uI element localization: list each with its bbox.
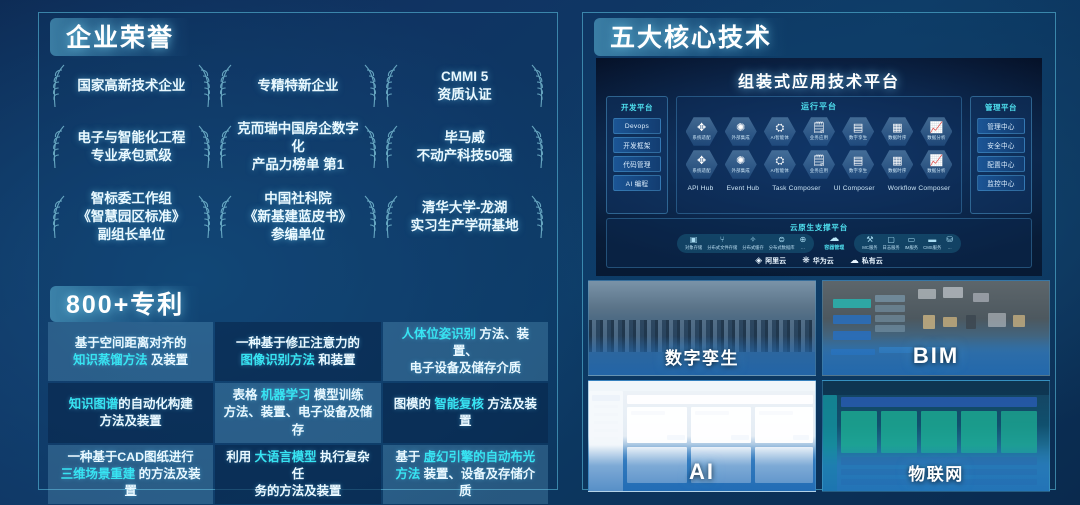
tile-graphic-element bbox=[875, 295, 905, 302]
capability-caption: 外部集成 bbox=[732, 135, 750, 141]
platform-capability-icon: ✥系统适配 bbox=[686, 116, 718, 147]
run-platform-icon-row-1: ✥系统适配✺外部集成⛭AI智能体🗒业务应用▤数字孪生▦数据时序📈数据分析 bbox=[677, 116, 961, 149]
cloud-service-caption: 分布式缓存 bbox=[742, 245, 763, 251]
mgmt-platform-items: 管理中心安全中心配置中心监控中心 bbox=[971, 118, 1031, 191]
platform-capability-icon: ▤数字孪生 bbox=[842, 149, 874, 180]
cloud-service-icon: ▢ bbox=[887, 236, 895, 244]
capability-caption: 数字孪生 bbox=[849, 135, 867, 141]
capability-glyph: ▦ bbox=[892, 123, 902, 134]
tile-graphic-element bbox=[988, 313, 1006, 327]
platform-capability-icon: ✺外部集成 bbox=[725, 116, 757, 147]
tile-graphic-element bbox=[918, 289, 936, 299]
capability-caption: AI智能体 bbox=[771, 168, 789, 174]
cloud-service-item: ⚒MC服务 bbox=[862, 236, 877, 251]
honor-text: 清华大学-龙湖实习生产学研基地 bbox=[411, 199, 519, 235]
capability-caption: 数据时序 bbox=[888, 135, 906, 141]
laurel-icon bbox=[361, 124, 379, 170]
platform-capability-icon: 🗒业务应用 bbox=[803, 149, 835, 180]
patent-card: 利用 大语言模型 执行复杂任务的方法及装置 bbox=[215, 445, 380, 504]
container-management: ☁容器管理 bbox=[818, 234, 850, 253]
tile-graphic-element bbox=[943, 287, 963, 298]
capability-glyph: ⛭ bbox=[775, 123, 784, 134]
cloud-vendor: ☁私有云 bbox=[850, 255, 883, 266]
cloud-service-caption: 对象存储 bbox=[685, 245, 702, 251]
tile-graphic-element bbox=[589, 381, 816, 391]
laurel-icon bbox=[383, 124, 401, 170]
honor-text: CMMI 5资质认证 bbox=[438, 68, 492, 104]
capability-caption: 数据分析 bbox=[927, 135, 945, 141]
mgmt-platform-header: 管理平台 bbox=[971, 102, 1031, 113]
cloud-service-caption: 日志服务 bbox=[883, 245, 900, 251]
cloud-service-item: ⊜分布式数据库 bbox=[769, 236, 795, 251]
cloud-vendor-icon: ❋ bbox=[802, 255, 810, 266]
hub-label: API Hub bbox=[688, 185, 714, 192]
patent-card: 人体位姿识别 方法、装置、电子设备及储存介质 bbox=[383, 322, 548, 381]
mgmt-platform-column: 管理平台 管理中心安全中心配置中心监控中心 bbox=[970, 96, 1032, 214]
capability-caption: 数字孪生 bbox=[849, 168, 867, 174]
cloud-vendor-name: 阿里云 bbox=[765, 256, 786, 266]
honor-text: 智标委工作组《智慧园区标准》副组长单位 bbox=[77, 190, 185, 245]
dev-platform-items: Devops开发框架代码管理AI 编程 bbox=[607, 118, 667, 191]
honor-item: 智标委工作组《智慧园区标准》副组长单位 bbox=[48, 188, 215, 246]
tile-graphic-element bbox=[755, 407, 813, 443]
cloud-service-caption: IM服务 bbox=[905, 245, 918, 251]
platform-capability-icon: ✺外部集成 bbox=[725, 149, 757, 180]
tile-graphic-element bbox=[841, 397, 1037, 407]
honor-text: 电子与智能化工程专业承包贰级 bbox=[77, 129, 185, 165]
run-platform-column: 运行平台 ✥系统适配✺外部集成⛭AI智能体🗒业务应用▤数字孪生▦数据时序📈数据分… bbox=[676, 96, 962, 214]
laurel-icon bbox=[528, 124, 546, 170]
patent-card: 一种基于修正注意力的图像识别方法 和装置 bbox=[215, 322, 380, 381]
capability-caption: 业务应用 bbox=[810, 168, 828, 174]
laurel-icon bbox=[50, 63, 68, 109]
cloud-service-item: ⊕… bbox=[800, 236, 807, 251]
patent-card: 知识图谱的自动化构建方法及装置 bbox=[48, 383, 213, 442]
patent-card: 表格 机器学习 模型训练方法、装置、电子设备及储存 bbox=[215, 383, 380, 442]
platform-capability-icon: ⛭AI智能体 bbox=[764, 149, 796, 180]
honor-text: 中国社科院《新基建蓝皮书》参编单位 bbox=[244, 190, 352, 245]
cloud-vendor-name: 华为云 bbox=[813, 256, 834, 266]
platform-capability-icon: ▦数据时序 bbox=[881, 116, 913, 147]
laurel-icon bbox=[217, 63, 235, 109]
honor-text: 国家高新技术企业 bbox=[77, 77, 185, 95]
tile-graphic-element bbox=[833, 315, 871, 324]
cloud-service-caption: 分布式文件存储 bbox=[707, 245, 737, 251]
cloud-vendor: ❋华为云 bbox=[802, 255, 834, 266]
cloud-service-icon: ⛁ bbox=[946, 236, 953, 244]
laurel-icon bbox=[528, 63, 546, 109]
patent-card: 图模的 智能复核 方法及装置 bbox=[383, 383, 548, 442]
run-platform-icon-row-2: ✥系统适配✺外部集成⛭AI智能体🗒业务应用▤数字孪生▦数据时序📈数据分析 bbox=[677, 149, 961, 182]
cloud-service-item: ⑂分布式文件存储 bbox=[707, 236, 737, 251]
capability-glyph: ✥ bbox=[697, 123, 706, 134]
dev-platform-item: Devops bbox=[613, 118, 661, 134]
honor-text: 毕马威不动产科技50强 bbox=[417, 129, 513, 165]
mgmt-platform-item: 监控中心 bbox=[977, 175, 1025, 191]
capability-glyph: ⛭ bbox=[775, 156, 784, 167]
tile-digital-twin[interactable]: 数字孪生 bbox=[588, 280, 816, 376]
cloud-vendor-name: 私有云 bbox=[862, 256, 883, 266]
honor-item: 电子与智能化工程专业承包贰级 bbox=[48, 118, 215, 176]
laurel-icon bbox=[217, 194, 235, 240]
cloud-service-icon: ⊕ bbox=[800, 236, 807, 244]
capability-glyph: ✺ bbox=[736, 156, 745, 167]
cloud-service-item: ▭IM服务 bbox=[905, 236, 918, 251]
tile-graphic-element bbox=[627, 407, 687, 443]
tile-bim[interactable]: BIM bbox=[822, 280, 1050, 376]
capability-caption: AI智能体 bbox=[771, 135, 789, 141]
tile-label: 数字孪生 bbox=[589, 344, 815, 369]
mgmt-platform-item: 安全中心 bbox=[977, 137, 1025, 153]
cloud-service-caption: … bbox=[947, 245, 951, 250]
cloud-service-icon: ⑂ bbox=[720, 236, 725, 244]
cloud-vendor: ◈阿里云 bbox=[755, 255, 786, 266]
run-platform-hub-labels: API HubEvent HubTask ComposerUI Composer… bbox=[677, 185, 961, 192]
tile-graphic-element bbox=[943, 317, 957, 327]
cloud-service-icon: ▣ bbox=[690, 236, 698, 244]
tile-label: BIM bbox=[823, 343, 1049, 369]
capability-glyph: 📈 bbox=[930, 123, 944, 134]
hub-label: Task Composer bbox=[772, 185, 820, 192]
patent-text: 一种基于CAD图纸进行三维场景重建 的方法及装置 bbox=[55, 449, 206, 500]
honor-item: 国家高新技术企业 bbox=[48, 66, 215, 106]
cloud-band-header: 云原生支撑平台 bbox=[607, 222, 1031, 233]
mgmt-platform-item: 管理中心 bbox=[977, 118, 1025, 134]
capability-glyph: ✺ bbox=[736, 123, 745, 134]
laurel-icon bbox=[217, 124, 235, 170]
cloud-service-icon: ⊜ bbox=[778, 236, 785, 244]
cloud-vendor-icon: ◈ bbox=[755, 255, 762, 266]
laurel-icon bbox=[50, 194, 68, 240]
laurel-icon bbox=[195, 124, 213, 170]
tile-graphic-element bbox=[1013, 315, 1025, 327]
laurel-icon bbox=[361, 63, 379, 109]
tile-label: 物联网 bbox=[823, 460, 1049, 485]
cloud-service-icon: ▬ bbox=[928, 236, 936, 244]
patent-card: 基于空间距离对齐的知识蒸馏方法 及装置 bbox=[48, 322, 213, 381]
tile-graphic-element bbox=[973, 293, 989, 302]
cloud-service-item: ⛁… bbox=[946, 236, 953, 251]
platform-architecture-diagram: 组装式应用技术平台 开发平台 Devops开发框架代码管理AI 编程 运行平台 … bbox=[596, 58, 1042, 276]
tile-graphic-element bbox=[966, 315, 976, 329]
hub-label: Workflow Composer bbox=[888, 185, 951, 192]
honors-grid: 国家高新技术企业专精特新企业CMMI 5资质认证电子与智能化工程专业承包贰级克而… bbox=[48, 66, 548, 246]
slide-root: 企业荣誉 国家高新技术企业专精特新企业CMMI 5资质认证电子与智能化工程专业承… bbox=[0, 0, 1080, 505]
tile-iot[interactable]: 物联网 bbox=[822, 380, 1050, 492]
platform-capability-icon: 📈数据分析 bbox=[920, 149, 952, 180]
patent-text: 基于空间距离对齐的知识蒸馏方法 及装置 bbox=[73, 335, 188, 369]
honor-text: 专精特新企业 bbox=[257, 77, 338, 95]
patents-grid: 基于空间距离对齐的知识蒸馏方法 及装置一种基于修正注意力的图像识别方法 和装置人… bbox=[48, 322, 548, 484]
tile-graphic-element bbox=[875, 325, 905, 332]
laurel-icon bbox=[195, 194, 213, 240]
capability-glyph: ▦ bbox=[892, 156, 902, 167]
capability-caption: 数据分析 bbox=[927, 168, 945, 174]
cloud-service-caption: CMS服务 bbox=[923, 245, 941, 251]
tile-graphic-element bbox=[875, 305, 905, 312]
platform-capability-icon: ▦数据时序 bbox=[881, 149, 913, 180]
cloud-icon: ☁ bbox=[829, 234, 839, 244]
mgmt-platform-item: 配置中心 bbox=[977, 156, 1025, 172]
cloud-service-group: ⚒MC服务▢日志服务▭IM服务▬CMS服务⛁… bbox=[854, 234, 961, 253]
capability-caption: 系统适配 bbox=[692, 168, 710, 174]
hub-label: UI Composer bbox=[834, 185, 875, 192]
patent-text: 知识图谱的自动化构建方法及装置 bbox=[69, 396, 193, 430]
laurel-icon bbox=[361, 194, 379, 240]
honors-section-title: 企业荣誉 bbox=[50, 18, 190, 56]
laurel-icon bbox=[50, 124, 68, 170]
platform-capability-icon: 🗒业务应用 bbox=[803, 116, 835, 147]
patent-text: 基于 虚幻引擎的自动布光方法 装置、设备及存储介质 bbox=[390, 449, 541, 500]
capability-glyph: ✥ bbox=[697, 156, 706, 167]
laurel-icon bbox=[383, 63, 401, 109]
cloud-native-band: 云原生支撑平台 ▣对象存储⑂分布式文件存储✧分布式缓存⊜分布式数据库⊕…☁容器管… bbox=[606, 218, 1032, 268]
cloud-service-item: ✧分布式缓存 bbox=[742, 236, 763, 251]
tile-graphic-element bbox=[833, 299, 871, 308]
honor-item: CMMI 5资质认证 bbox=[381, 66, 548, 106]
cloud-service-icon: ✧ bbox=[750, 236, 757, 244]
cloud-service-caption: 分布式数据库 bbox=[769, 245, 795, 251]
capability-glyph: 📈 bbox=[930, 156, 944, 167]
cloud-service-item: ▣对象存储 bbox=[685, 236, 702, 251]
tile-graphic-element bbox=[627, 395, 813, 404]
patent-text: 利用 大语言模型 执行复杂任务的方法及装置 bbox=[222, 449, 373, 500]
honor-text: 克而瑞中国房企数字化产品力榜单 第1 bbox=[237, 120, 360, 175]
tile-graphic-element bbox=[823, 381, 1050, 395]
run-platform-header: 运行平台 bbox=[677, 101, 961, 112]
cloud-service-item: ▢日志服务 bbox=[883, 236, 900, 251]
dev-platform-item: AI 编程 bbox=[613, 175, 661, 191]
laurel-icon bbox=[195, 63, 213, 109]
capability-caption: 数据时序 bbox=[888, 168, 906, 174]
honor-item: 清华大学-龙湖实习生产学研基地 bbox=[381, 188, 548, 246]
patent-text: 一种基于修正注意力的图像识别方法 和装置 bbox=[236, 335, 360, 369]
patent-text: 人体位姿识别 方法、装置、电子设备及储存介质 bbox=[390, 326, 541, 377]
honor-item: 克而瑞中国房企数字化产品力榜单 第1 bbox=[215, 118, 382, 176]
patent-text: 图模的 智能复核 方法及装置 bbox=[390, 396, 541, 430]
capability-glyph: 🗒 bbox=[812, 123, 826, 134]
tile-ai[interactable]: AI bbox=[588, 380, 816, 492]
capability-caption: 外部集成 bbox=[732, 168, 750, 174]
patents-section-title: 800+专利 bbox=[50, 286, 200, 322]
cloud-vendor-icon: ☁ bbox=[850, 255, 859, 266]
cloud-service-caption: … bbox=[801, 245, 805, 250]
patent-card: 一种基于CAD图纸进行三维场景重建 的方法及装置 bbox=[48, 445, 213, 504]
capability-caption: 业务应用 bbox=[810, 135, 828, 141]
capability-glyph: ▤ bbox=[853, 123, 863, 134]
capability-glyph: 🗒 bbox=[812, 156, 826, 167]
dev-platform-header: 开发平台 bbox=[607, 102, 667, 113]
dev-platform-item: 开发框架 bbox=[613, 137, 661, 153]
honor-item: 毕马威不动产科技50强 bbox=[381, 118, 548, 176]
dev-platform-column: 开发平台 Devops开发框架代码管理AI 编程 bbox=[606, 96, 668, 214]
patent-card: 基于 虚幻引擎的自动布光方法 装置、设备及存储介质 bbox=[383, 445, 548, 504]
laurel-icon bbox=[528, 194, 546, 240]
cloud-service-icon: ▭ bbox=[908, 236, 916, 244]
core-tech-section-title: 五大核心技术 bbox=[594, 18, 788, 56]
patent-text: 表格 机器学习 模型训练方法、装置、电子设备及储存 bbox=[222, 387, 373, 438]
laurel-icon bbox=[383, 194, 401, 240]
tile-graphic-element bbox=[875, 315, 905, 322]
hub-label: Event Hub bbox=[727, 185, 760, 192]
platform-capability-icon: ✥系统适配 bbox=[686, 149, 718, 180]
tile-graphic-element bbox=[923, 315, 935, 329]
cloud-vendor-row: ◈阿里云❋华为云☁私有云 bbox=[607, 255, 1031, 266]
tile-label: AI bbox=[589, 459, 815, 485]
cloud-service-group: ▣对象存储⑂分布式文件存储✧分布式缓存⊜分布式数据库⊕… bbox=[677, 234, 814, 253]
cloud-service-item: ▬CMS服务 bbox=[923, 236, 941, 251]
cloud-service-row: ▣对象存储⑂分布式文件存储✧分布式缓存⊜分布式数据库⊕…☁容器管理⚒MC服务▢日… bbox=[607, 234, 1031, 253]
honor-item: 中国社科院《新基建蓝皮书》参编单位 bbox=[215, 188, 382, 246]
tile-graphic-element bbox=[691, 407, 751, 443]
container-management-label: 容器管理 bbox=[824, 244, 844, 251]
capability-caption: 系统适配 bbox=[692, 135, 710, 141]
capability-glyph: ▤ bbox=[853, 156, 863, 167]
dev-platform-item: 代码管理 bbox=[613, 156, 661, 172]
cloud-service-icon: ⚒ bbox=[866, 236, 873, 244]
cloud-service-caption: MC服务 bbox=[862, 245, 877, 251]
platform-capability-icon: 📈数据分析 bbox=[920, 116, 952, 147]
honor-item: 专精特新企业 bbox=[215, 66, 382, 106]
platform-capability-icon: ⛭AI智能体 bbox=[764, 116, 796, 147]
platform-title: 组装式应用技术平台 bbox=[596, 68, 1042, 92]
platform-capability-icon: ▤数字孪生 bbox=[842, 116, 874, 147]
